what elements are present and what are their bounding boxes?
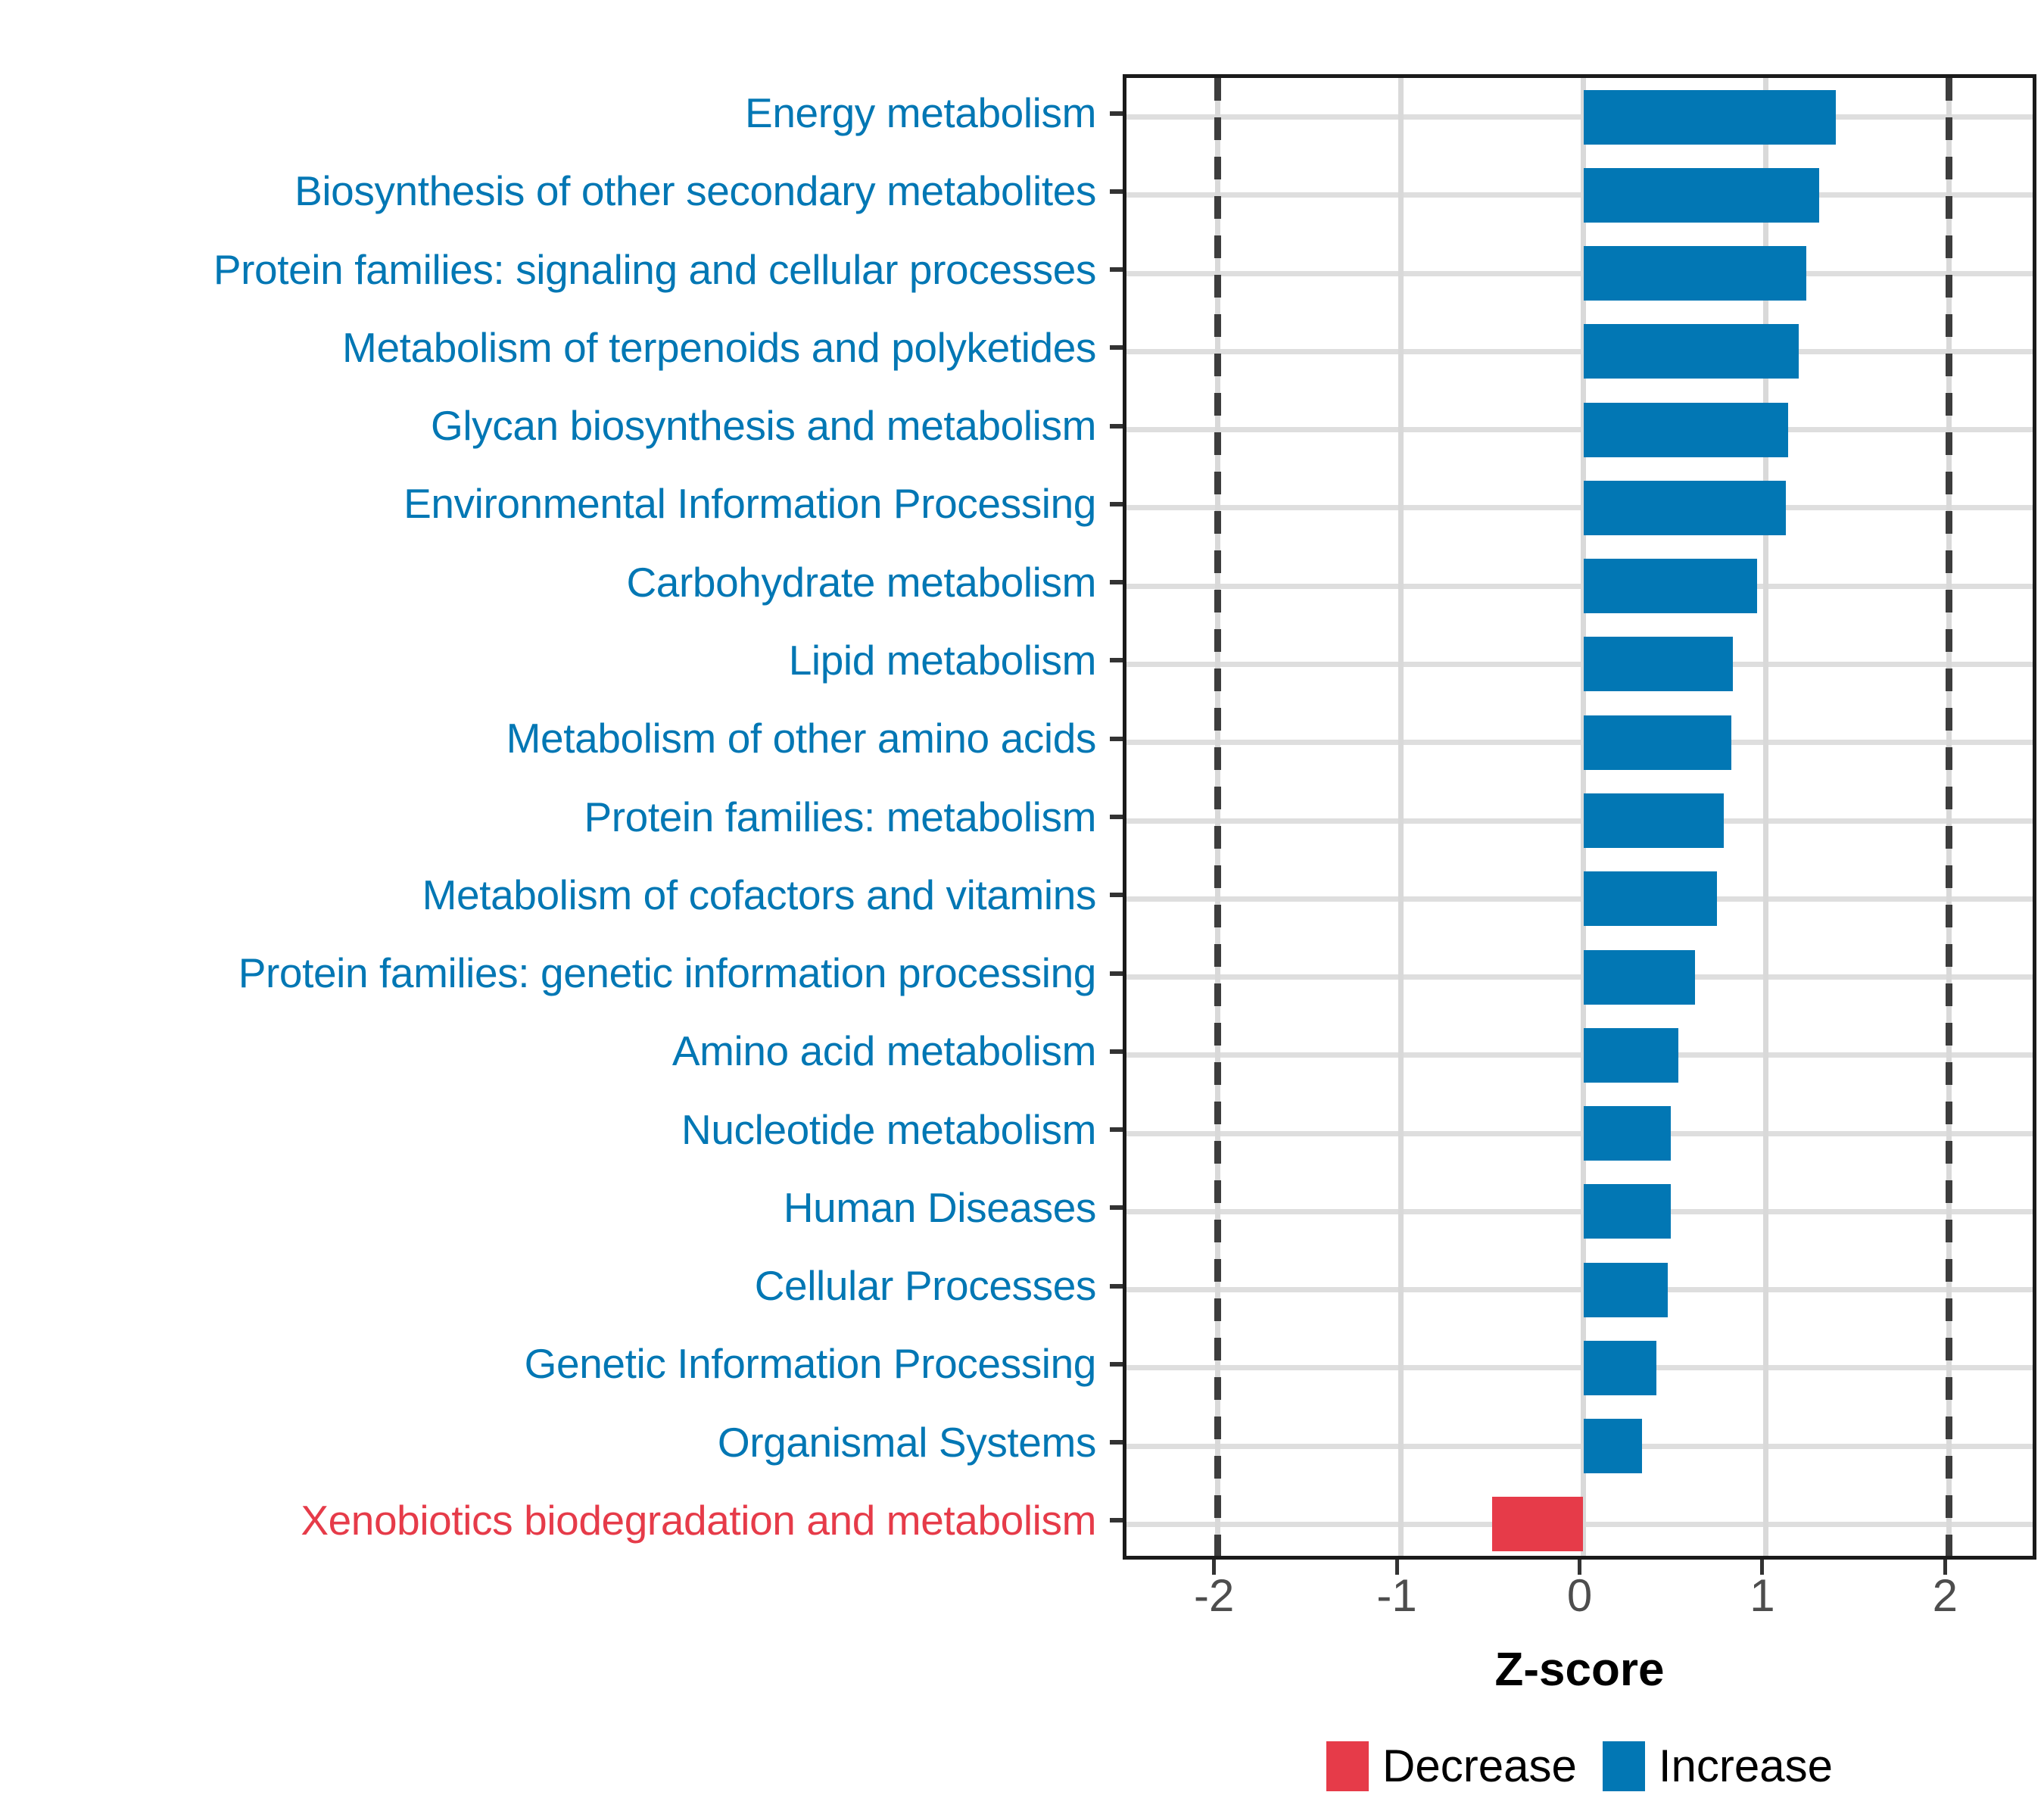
category-tick-mark	[1110, 189, 1123, 194]
bar[interactable]	[1584, 559, 1757, 613]
bar[interactable]	[1584, 871, 1717, 926]
category-tick-mark	[1110, 345, 1123, 350]
category-tick-mark	[1110, 1049, 1123, 1054]
category-label: Genetic Information Processing	[525, 1343, 1096, 1385]
category-tick-mark	[1110, 1440, 1123, 1445]
bar[interactable]	[1584, 1106, 1672, 1161]
horizontal-gridline	[1126, 818, 2033, 824]
category-tick-mark	[1110, 658, 1123, 662]
category-label: Protein families: signaling and cellular…	[213, 249, 1096, 291]
horizontal-gridline	[1126, 896, 2033, 902]
x-tick-label: -1	[1376, 1573, 1416, 1619]
category-label: Metabolism of terpenoids and polyketides	[342, 327, 1096, 369]
category-tick-mark	[1110, 1362, 1123, 1367]
legend-swatch	[1603, 1741, 1645, 1791]
bar[interactable]	[1584, 1263, 1668, 1317]
horizontal-gridline	[1126, 427, 2033, 432]
category-label: Cellular Processes	[755, 1265, 1096, 1307]
horizontal-gridline	[1126, 740, 2033, 745]
category-label: Glycan biosynthesis and metabolism	[431, 405, 1096, 447]
legend-item[interactable]: Decrease	[1326, 1741, 1577, 1791]
legend-swatch	[1326, 1741, 1369, 1791]
bar[interactable]	[1584, 90, 1836, 145]
category-tick-mark	[1110, 893, 1123, 897]
category-tick-mark	[1110, 267, 1123, 272]
category-label: Biosynthesis of other secondary metaboli…	[294, 170, 1096, 212]
x-axis-tick-labels: -2-1012	[1123, 1573, 2036, 1634]
category-axis-labels: Energy metabolismBiosynthesis of other s…	[0, 74, 1110, 1560]
category-tick-mark	[1110, 1518, 1123, 1522]
category-label: Carbohydrate metabolism	[626, 562, 1096, 603]
reference-line	[1214, 78, 1221, 1556]
horizontal-gridline	[1126, 1131, 2033, 1136]
category-tick-mark	[1110, 502, 1123, 506]
horizontal-gridline	[1126, 584, 2033, 589]
horizontal-gridline	[1126, 505, 2033, 510]
chart-root: Energy metabolismBiosynthesis of other s…	[0, 0, 2044, 1817]
horizontal-gridline	[1126, 349, 2033, 354]
category-label: Human Diseases	[784, 1187, 1096, 1229]
category-label: Energy metabolism	[745, 92, 1096, 134]
plot-panel	[1123, 74, 2036, 1560]
horizontal-gridline	[1126, 114, 2033, 120]
bar[interactable]	[1584, 715, 1732, 770]
horizontal-gridline	[1126, 271, 2033, 276]
bar[interactable]	[1584, 481, 1787, 535]
category-tick-mark	[1110, 1127, 1123, 1132]
category-axis-ticks	[1110, 74, 1123, 1560]
x-tick-label: 1	[1750, 1573, 1774, 1619]
bar[interactable]	[1584, 1419, 1642, 1473]
legend-label: Increase	[1659, 1744, 1833, 1789]
category-tick-mark	[1110, 580, 1123, 584]
category-tick-mark	[1110, 424, 1123, 429]
category-tick-mark	[1110, 815, 1123, 819]
category-label: Protein families: genetic information pr…	[238, 952, 1096, 994]
category-tick-mark	[1110, 1284, 1123, 1289]
category-label: Xenobiotics biodegradation and metabolis…	[301, 1500, 1096, 1541]
reference-line	[1946, 78, 1952, 1556]
bar[interactable]	[1584, 637, 1734, 691]
category-tick-mark	[1110, 737, 1123, 741]
bar[interactable]	[1584, 168, 1819, 223]
bar[interactable]	[1584, 1184, 1672, 1239]
x-axis-title: Z-score	[1123, 1643, 2036, 1697]
horizontal-gridline	[1126, 1209, 2033, 1214]
vertical-gridline	[1398, 78, 1404, 1556]
horizontal-gridline	[1126, 1052, 2033, 1058]
category-label: Protein families: metabolism	[584, 796, 1096, 838]
bar[interactable]	[1584, 1341, 1657, 1395]
bar[interactable]	[1584, 1028, 1679, 1083]
category-label: Lipid metabolism	[789, 640, 1096, 681]
category-tick-mark	[1110, 971, 1123, 976]
category-tick-mark	[1110, 1205, 1123, 1210]
horizontal-gridline	[1126, 192, 2033, 198]
horizontal-gridline	[1126, 662, 2033, 667]
category-label: Organismal Systems	[718, 1422, 1096, 1463]
bar[interactable]	[1584, 246, 1807, 301]
category-label: Metabolism of other amino acids	[506, 718, 1096, 759]
legend-item[interactable]: Increase	[1603, 1741, 1833, 1791]
bar[interactable]	[1584, 403, 1788, 457]
bar[interactable]	[1492, 1497, 1584, 1551]
x-tick-label: 0	[1567, 1573, 1592, 1619]
legend-label: Decrease	[1382, 1744, 1577, 1789]
chart-legend: DecreaseIncrease	[1123, 1725, 2036, 1808]
x-tick-label: -2	[1194, 1573, 1234, 1619]
x-tick-label: 2	[1933, 1573, 1958, 1619]
bar[interactable]	[1584, 950, 1695, 1005]
horizontal-gridline	[1126, 1365, 2033, 1370]
horizontal-gridline	[1126, 1444, 2033, 1449]
category-label: Amino acid metabolism	[672, 1030, 1096, 1072]
category-label: Environmental Information Processing	[404, 483, 1096, 525]
category-label: Nucleotide metabolism	[681, 1109, 1096, 1151]
bar[interactable]	[1584, 324, 1799, 379]
bar[interactable]	[1584, 793, 1725, 848]
category-label: Metabolism of cofactors and vitamins	[422, 874, 1096, 916]
plot-area	[1126, 78, 2033, 1556]
horizontal-gridline	[1126, 974, 2033, 980]
category-tick-mark	[1110, 111, 1123, 116]
horizontal-gridline	[1126, 1287, 2033, 1292]
